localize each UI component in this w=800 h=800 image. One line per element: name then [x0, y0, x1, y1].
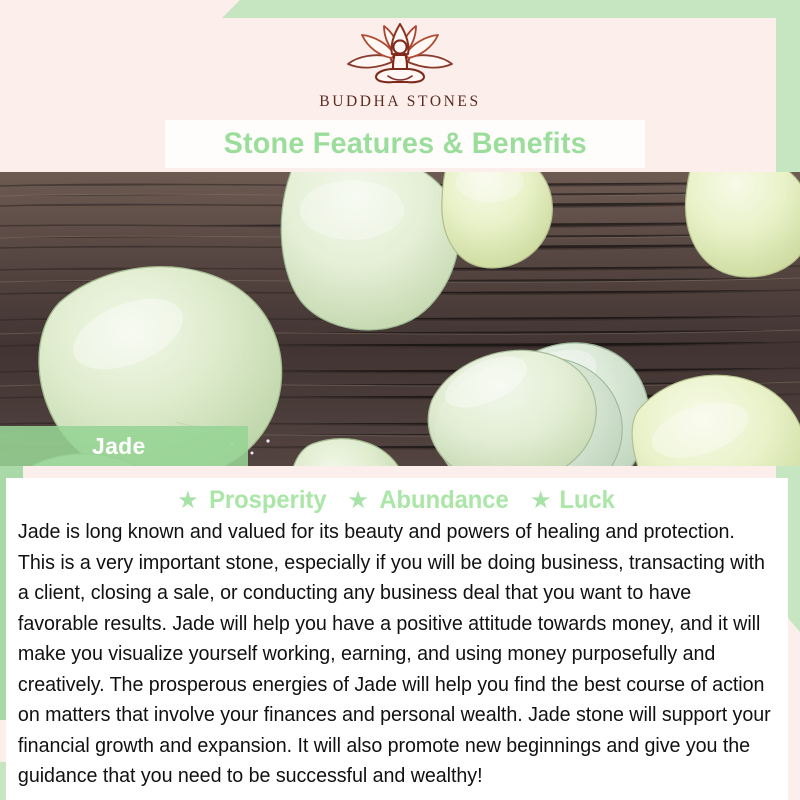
keyword-item: ★ Abundance — [347, 486, 512, 515]
keyword-label: Abundance — [379, 486, 508, 515]
brand-header: BUDDHA STONES — [0, 22, 800, 111]
decoration-top-right-green-bar — [222, 0, 800, 18]
page-title: Stone Features & Benefits — [223, 127, 586, 161]
stone-description: Jade is long known and valued for its be… — [16, 517, 778, 792]
hero-photo-container: Jade — [0, 172, 800, 466]
keyword-label: Luck — [560, 486, 615, 515]
star-icon: ★ — [347, 489, 369, 513]
keyword-item: ★ Luck — [530, 486, 617, 515]
stone-name-caption: Jade — [0, 426, 248, 466]
star-icon: ★ — [530, 489, 552, 513]
stone-name-label: Jade — [0, 433, 146, 460]
keyword-item: ★ Prosperity — [177, 486, 329, 515]
star-icon: ★ — [177, 489, 199, 513]
infographic-root: BUDDHA STONES Stone Features & Benefits — [0, 0, 800, 800]
brand-name: BUDDHA STONES — [0, 93, 800, 111]
lotus-meditation-figure-icon — [336, 22, 464, 88]
content-card: ★ Prosperity ★ Abundance ★ Luck Jade is … — [6, 478, 788, 800]
title-banner: Stone Features & Benefits — [165, 120, 645, 168]
jade-stones-photo — [0, 172, 800, 466]
keyword-label: Prosperity — [209, 486, 326, 515]
keyword-list: ★ Prosperity ★ Abundance ★ Luck — [16, 486, 778, 515]
